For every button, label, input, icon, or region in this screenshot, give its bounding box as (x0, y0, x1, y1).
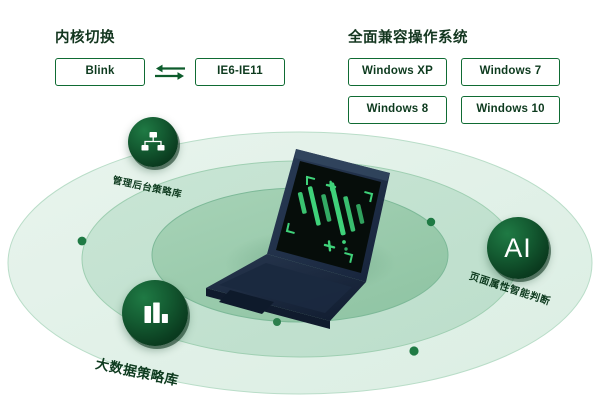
node-badge-mgmt[interactable] (128, 117, 178, 167)
badge-face (128, 117, 178, 167)
group-kernel-switch: 内核切换 Blink IE6-IE11 (55, 26, 285, 86)
chip-ie-range[interactable]: IE6-IE11 (195, 58, 285, 86)
orbit-dot (273, 318, 281, 326)
kernel-chip-row: Blink IE6-IE11 (55, 58, 285, 86)
chip-windows-8[interactable]: Windows 8 (348, 96, 447, 124)
orbit-dot (427, 218, 435, 226)
chip-windows-10[interactable]: Windows 10 (461, 96, 560, 124)
hierarchy-icon (139, 128, 167, 156)
group-title-os: 全面兼容操作系统 (348, 26, 560, 47)
chip-windows-xp[interactable]: Windows XP (348, 58, 447, 86)
orbit-dot (409, 346, 418, 355)
node-badge-bigdata[interactable] (122, 280, 188, 346)
orbit-dot (78, 237, 87, 246)
chip-blink[interactable]: Blink (55, 58, 145, 86)
chip-windows-7[interactable]: Windows 7 (461, 58, 560, 86)
group-title-kernel: 内核切换 (55, 26, 285, 47)
badge-face: AI (487, 217, 549, 279)
bar-chart-icon (139, 297, 171, 329)
infographic-stage: AI 管理后台策略库 大数据策略库 页面属性智能判断 内核切换 Blink IE… (0, 0, 600, 407)
badge-face (122, 280, 188, 346)
bidirectional-arrows-icon (153, 58, 187, 86)
ai-text-icon: AI (504, 235, 532, 262)
os-chip-grid: Windows XP Windows 7 Windows 8 Windows 1… (348, 58, 560, 124)
group-os-compatibility: 全面兼容操作系统 Windows XP Windows 7 Windows 8 … (348, 26, 560, 124)
node-badge-ai[interactable]: AI (487, 217, 549, 279)
